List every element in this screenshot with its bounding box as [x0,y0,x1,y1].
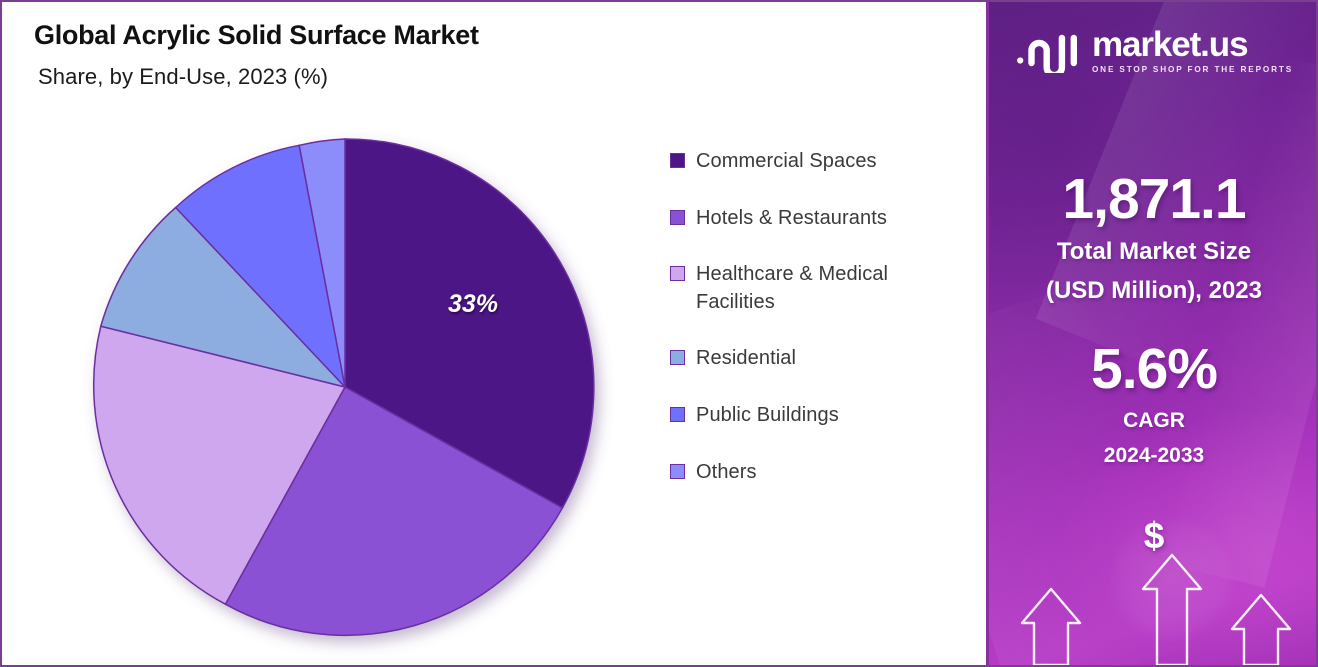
legend-swatch-icon [670,153,685,168]
legend-item-commercial-spaces[interactable]: Commercial Spaces [670,148,970,176]
market-size-stat: 1,871.1 Total Market Size (USD Million),… [989,170,1316,306]
brand-tagline: ONE STOP SHOP FOR THE REPORTS [1092,65,1293,74]
legend-item-label: Residential [696,345,796,373]
page-title: Global Acrylic Solid Surface Market [34,20,479,51]
legend-item-residential[interactable]: Residential [670,345,970,373]
cagr-caption-line2: 2024-2033 [989,443,1316,468]
pie-chart: 33% [80,119,618,659]
legend-item-label: Others [696,459,757,487]
pie-data-label-commercial-spaces: 33% [448,290,498,318]
page-subtitle: Share, by End-Use, 2023 (%) [38,64,479,90]
legend-item-public-buildings[interactable]: Public Buildings [670,402,970,430]
panel-background-streak [1158,56,1316,587]
brand-name: market.us [1092,28,1247,61]
chart-panel: Global Acrylic Solid Surface Market Shar… [2,2,988,665]
legend-item-healthcare-medical-facilities[interactable]: Healthcare & Medical Facilities [670,261,970,316]
dollar-sign-icon: $ [989,515,1316,557]
legend-item-others[interactable]: Others [670,459,970,487]
market-us-logo-icon [1015,29,1081,73]
legend-swatch-icon [670,407,685,422]
legend-item-hotels-restaurants[interactable]: Hotels & Restaurants [670,205,970,233]
legend-item-label: Public Buildings [696,402,839,430]
cagr-caption-line1: CAGR [989,408,1316,433]
market-size-caption-line2: (USD Million), 2023 [989,277,1316,306]
market-size-caption-line1: Total Market Size [989,238,1316,267]
stats-panel: market.us ONE STOP SHOP FOR THE REPORTS … [986,2,1316,665]
legend-swatch-icon [670,464,685,479]
legend-item-label: Healthcare & Medical Facilities [696,261,970,316]
legend-swatch-icon [670,350,685,365]
cagr-stat: 5.6% CAGR 2024-2033 [989,340,1316,469]
infographic-root: Global Acrylic Solid Surface Market Shar… [0,0,1318,667]
brand-logo[interactable]: market.us ONE STOP SHOP FOR THE REPORTS [989,28,1316,74]
legend-swatch-icon [670,210,685,225]
cagr-value: 5.6% [989,340,1316,398]
chart-legend: Commercial Spaces Hotels & Restaurants H… [670,148,970,515]
pie-slices [94,139,594,635]
chart-heading-group: Global Acrylic Solid Surface Market Shar… [34,20,479,90]
legend-swatch-icon [670,266,685,281]
market-size-value: 1,871.1 [989,170,1316,228]
legend-item-label: Commercial Spaces [696,148,877,176]
brand-text-block: market.us ONE STOP SHOP FOR THE REPORTS [1092,28,1293,74]
legend-item-label: Hotels & Restaurants [696,205,887,233]
